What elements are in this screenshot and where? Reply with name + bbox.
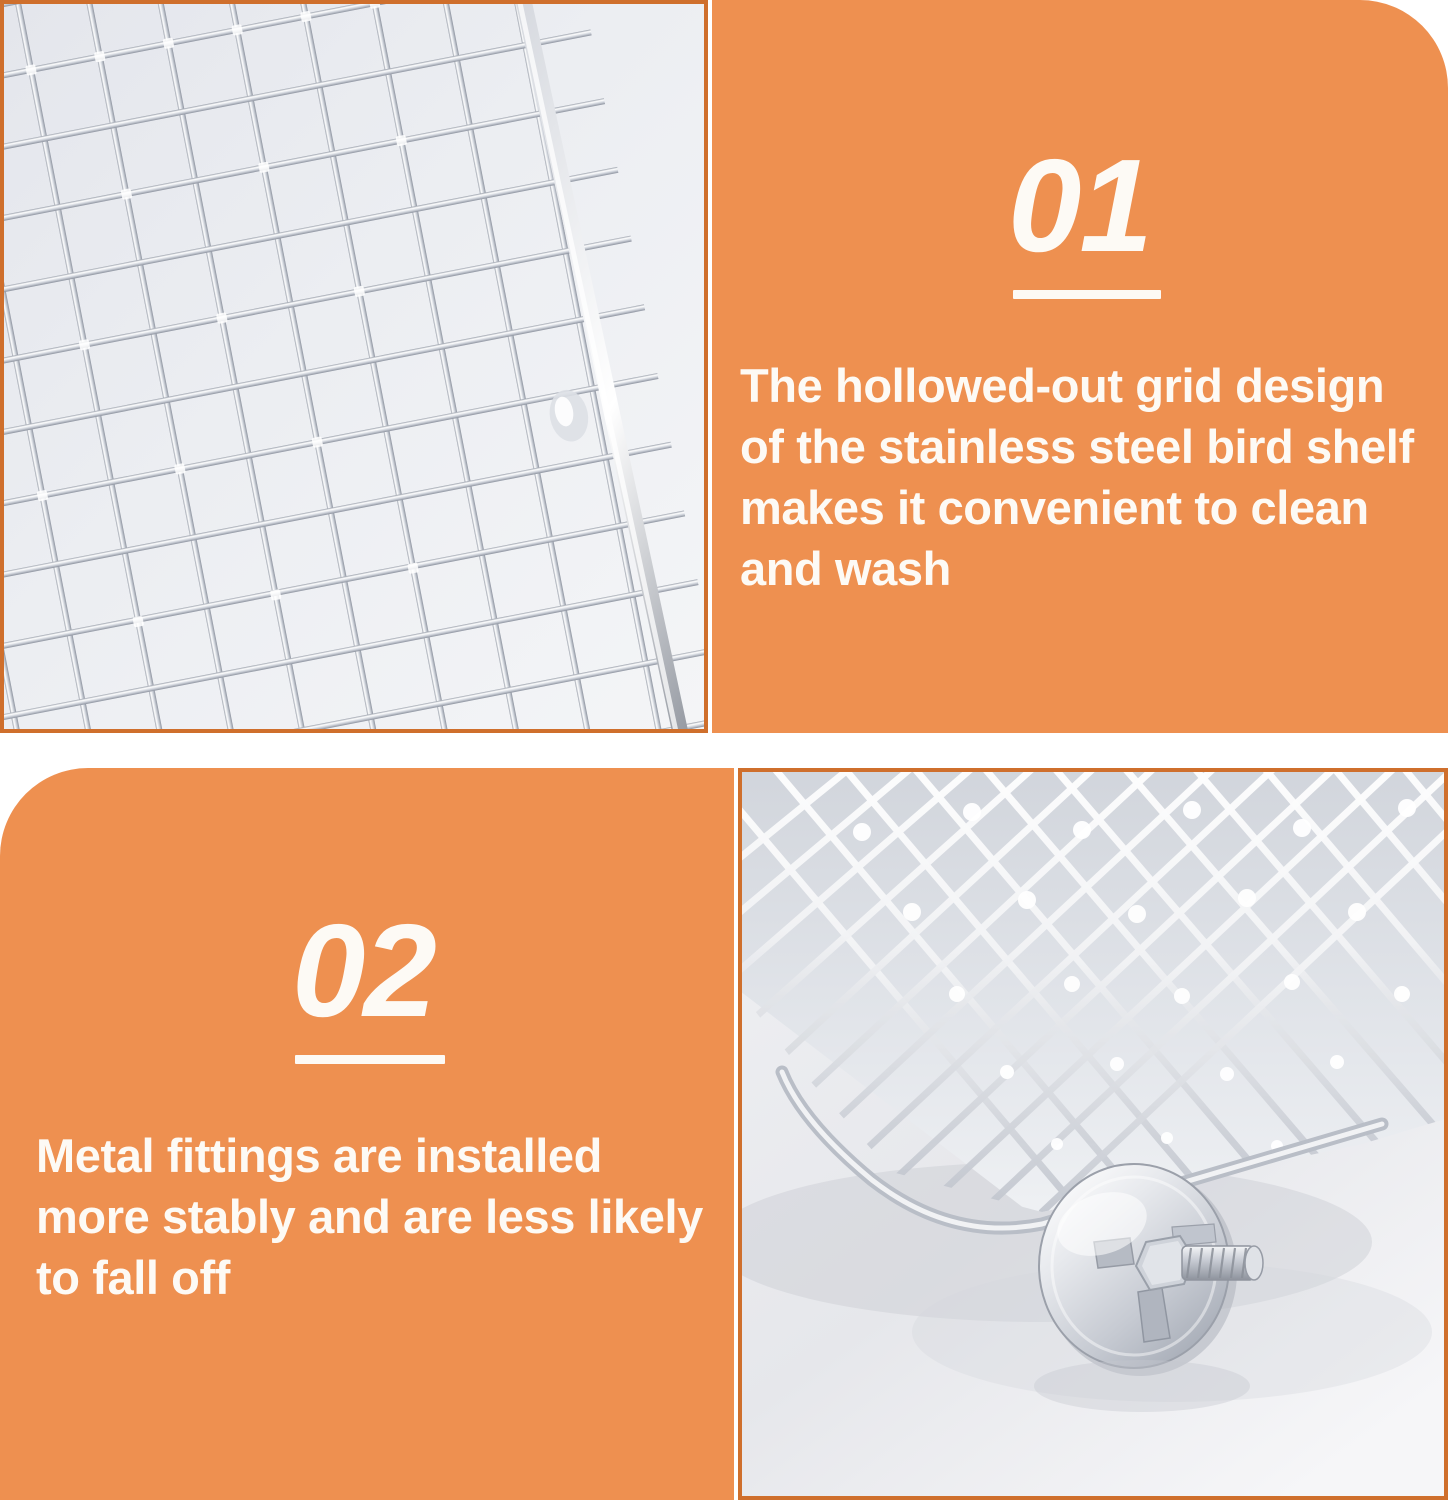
feature-1-photo	[0, 0, 708, 733]
feature-2-number-block: 02	[292, 905, 445, 1064]
feature-2-number: 02	[292, 905, 445, 1037]
feature-1-number-rule	[1013, 290, 1161, 299]
feature-2-number-rule	[295, 1055, 445, 1064]
feature-1-number-block: 01	[1008, 140, 1161, 299]
infographic-canvas: 01 The hollowed-out grid design of the s…	[0, 0, 1448, 1500]
feature-1-number: 01	[1008, 140, 1161, 272]
feature-1-description: The hollowed-out grid design of the stai…	[740, 355, 1430, 599]
mesh-grill-with-foot-fitting-illustration	[742, 772, 1444, 1496]
feature-2-photo	[738, 768, 1448, 1500]
wire-mesh-grid-illustration	[4, 4, 704, 729]
feature-2-description: Metal fittings are installed more stably…	[36, 1125, 726, 1308]
